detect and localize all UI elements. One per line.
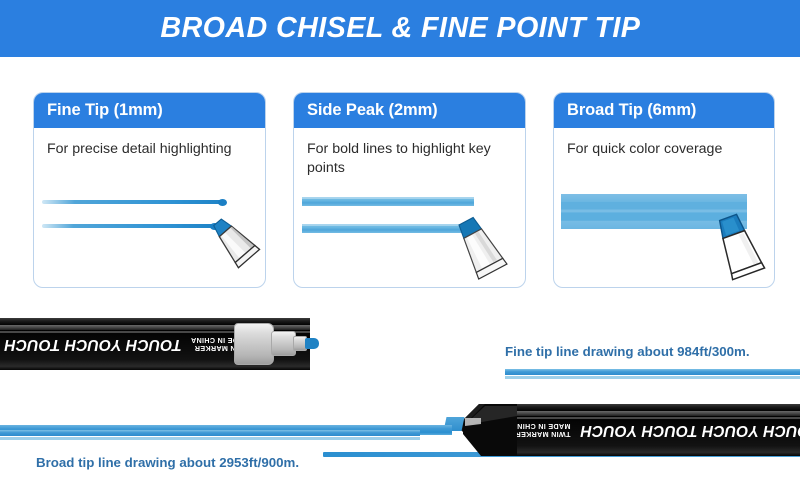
- card-body-broad-tip: For quick color coverage: [554, 128, 774, 288]
- marker-fine-nib: [305, 338, 319, 349]
- ink-stroke-fine-upper: [42, 200, 225, 204]
- card-fine-tip: Fine Tip (1mm) For precise detail highli…: [33, 92, 266, 288]
- marker-fine-brand: TOUCH YOUCH TOUCH YOUCH: [0, 335, 182, 353]
- card-broad-tip: Broad Tip (6mm) For quick color coverage: [553, 92, 775, 288]
- product-infographic: BROAD CHISEL & FINE POINT TIP Fine Tip (…: [0, 0, 800, 494]
- fine-line-measure-rule: [505, 369, 800, 375]
- caption-fine-length: Fine tip line drawing about 984ft/300m.: [505, 344, 750, 359]
- card-title-side-peak: Side Peak (2mm): [307, 101, 438, 120]
- fine-line-measure-rule-thin: [505, 376, 800, 379]
- card-body-side-peak: For bold lines to highlight key points: [294, 128, 525, 288]
- marker-broad-subline-2: MADE IN CHINA: [511, 422, 570, 430]
- marker-fine-cap-body: [234, 323, 274, 365]
- header-banner: BROAD CHISEL & FINE POINT TIP: [0, 0, 800, 57]
- card-body-fine-tip: For precise detail highlighting: [34, 128, 265, 288]
- ink-stroke-fine-lower: [42, 224, 217, 228]
- card-header-broad-tip: Broad Tip (6mm): [554, 93, 774, 128]
- page-title: BROAD CHISEL & FINE POINT TIP: [160, 12, 640, 45]
- marker-broad-printing: TOUCH YOUCH TOUCH YOUCH TWIN MARKER MADE…: [505, 404, 800, 456]
- card-title-fine-tip: Fine Tip (1mm): [47, 101, 163, 120]
- card-illustration-broad-tip: [554, 186, 774, 288]
- card-description-broad-tip: For quick color coverage: [567, 140, 766, 159]
- card-header-side-peak: Side Peak (2mm): [294, 93, 525, 128]
- marker-broad-head: [455, 404, 517, 456]
- fine-bullet-nib-icon: [204, 219, 266, 288]
- ink-stroke-fine-upper-cap: [218, 199, 227, 206]
- ink-stroke-peak-lower: [302, 224, 464, 233]
- ink-stroke-peak-upper: [302, 197, 474, 206]
- marker-broad-subline-1: TWIN MARKER: [511, 430, 570, 438]
- marker-broad-brand: TOUCH YOUCH TOUCH YOUCH: [580, 421, 800, 439]
- card-illustration-side-peak: [294, 186, 525, 288]
- feature-card-group: Fine Tip (1mm) For precise detail highli…: [0, 92, 800, 292]
- card-title-broad-tip: Broad Tip (6mm): [567, 101, 696, 120]
- marker-broad-barrel: TOUCH YOUCH TOUCH YOUCH TWIN MARKER MADE…: [505, 404, 800, 456]
- card-description-side-peak: For bold lines to highlight key points: [307, 140, 517, 178]
- card-description-fine-tip: For precise detail highlighting: [47, 140, 257, 159]
- caption-broad-length: Broad tip line drawing about 2953ft/900m…: [36, 455, 299, 470]
- card-side-peak: Side Peak (2mm) For bold lines to highli…: [293, 92, 526, 288]
- marker-fine: FINE TWIN MARKER MADE IN CHINA TOUCH YOU…: [0, 318, 310, 370]
- card-illustration-fine-tip: [34, 186, 265, 288]
- card-header-fine-tip: Fine Tip (1mm): [34, 93, 265, 128]
- chisel-corner-nib-icon: [449, 219, 526, 288]
- broad-line-measure-rule: [0, 430, 420, 436]
- broad-line-measure-rule-thin: [0, 437, 420, 440]
- broad-chisel-nib-icon: [706, 214, 775, 288]
- marker-broad: TOUCH YOUCH TOUCH YOUCH TWIN MARKER MADE…: [445, 404, 800, 456]
- marker-broad-sublines: TWIN MARKER MADE IN CHINA: [511, 422, 570, 437]
